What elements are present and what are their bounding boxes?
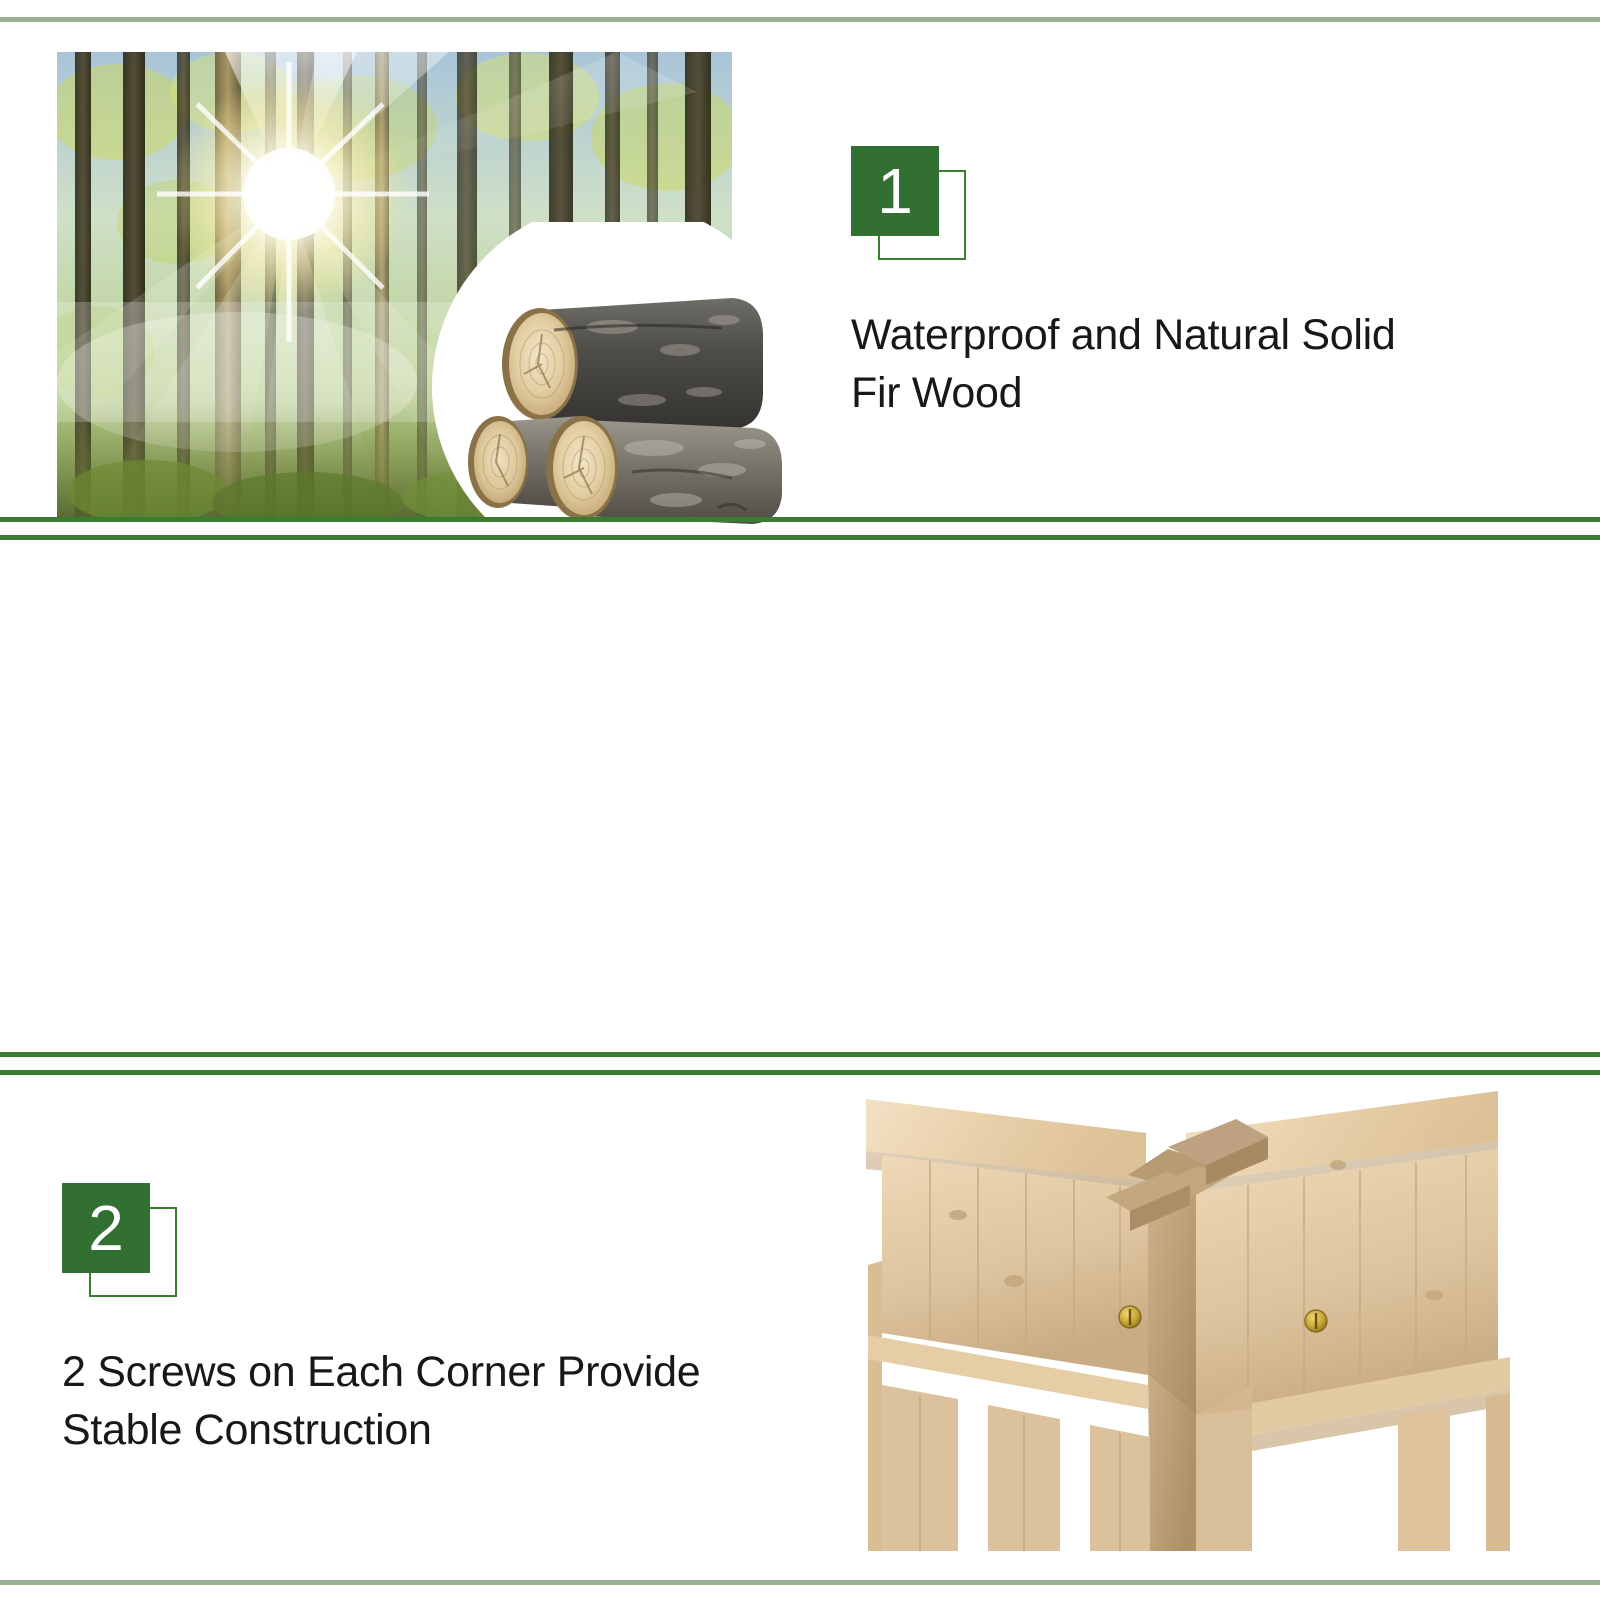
divider-line-lower [0, 1070, 1600, 1075]
feature-section-2: 2 2 Screws on Each Corner Provide Stable… [0, 540, 1600, 1052]
feature-text-1: 1 Waterproof and Natural Solid Fir Wood [851, 146, 1491, 422]
divider-gap [0, 522, 1600, 535]
badge-number: 1 [851, 146, 939, 236]
feature-headline-1: Waterproof and Natural Solid Fir Wood [851, 306, 1491, 422]
section-divider-2 [0, 1052, 1600, 1075]
feature-section-3: 3 4 Reinforced Crossbars Give The Raised… [0, 1078, 1600, 1578]
bottom-sage-rule [0, 1580, 1600, 1585]
feature-section-1: 1 Waterproof and Natural Solid Fir Wood [0, 22, 1600, 517]
infographic-page: 1 Waterproof and Natural Solid Fir Wood … [0, 0, 1600, 1600]
section-divider-1 [0, 517, 1600, 540]
step-badge-1: 1 [851, 146, 969, 262]
cut-logs-circle-inset [432, 222, 804, 552]
divider-gap [0, 1057, 1600, 1070]
